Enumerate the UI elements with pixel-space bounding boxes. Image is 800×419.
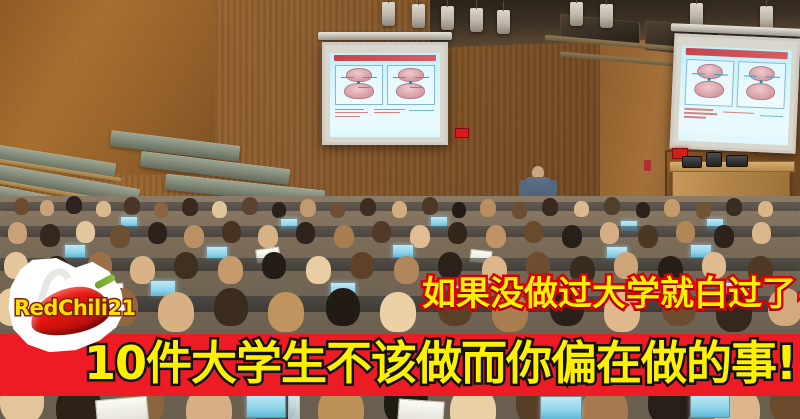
pendant-light bbox=[570, 2, 583, 26]
screen-roller-bar bbox=[318, 32, 452, 40]
slide-caption-area bbox=[330, 123, 440, 138]
screenshot-root: 如果没做过大学就白过了~ 10件大学生不该做而你偏在做的事! RedChili2… bbox=[0, 0, 800, 419]
projector-screen-right bbox=[670, 33, 800, 153]
lecturer-arm bbox=[548, 180, 557, 196]
screen-surface bbox=[322, 42, 448, 145]
notebook bbox=[95, 396, 149, 419]
slide-diagram-box bbox=[335, 65, 382, 106]
headline-main: 10件大学生不该做而你偏在做的事! bbox=[84, 339, 796, 387]
podium-equipment bbox=[682, 156, 702, 168]
podium-equipment bbox=[706, 152, 722, 167]
student-laptop bbox=[690, 394, 730, 418]
slide-diagram-box bbox=[737, 61, 786, 109]
slide-caption-area bbox=[678, 124, 789, 145]
pendant-light bbox=[441, 6, 454, 30]
water-bottle bbox=[288, 392, 300, 419]
podium-equipment bbox=[726, 155, 748, 167]
slide-diagram-box bbox=[387, 65, 434, 106]
slide-content bbox=[678, 45, 792, 128]
student-laptop bbox=[246, 394, 286, 418]
pendant-light bbox=[600, 4, 613, 28]
projector-screen-left bbox=[322, 42, 448, 145]
logo-brand-text: RedChili21 bbox=[14, 296, 126, 320]
pendant-light bbox=[497, 10, 510, 34]
student-laptop bbox=[540, 396, 582, 419]
slide-title-bar bbox=[686, 48, 788, 59]
lecturer-arm bbox=[519, 180, 528, 196]
headline-top: 如果没做过大学就白过了~ bbox=[422, 277, 800, 311]
student-laptop bbox=[64, 244, 86, 258]
slide-content bbox=[330, 53, 440, 123]
exit-sign bbox=[455, 128, 469, 138]
fire-alarm-icon bbox=[644, 160, 651, 171]
slide-diagram-box bbox=[685, 59, 734, 107]
notebook bbox=[397, 398, 445, 419]
screen-surface bbox=[670, 33, 800, 153]
pendant-light bbox=[382, 2, 395, 26]
chili-stem bbox=[94, 273, 117, 290]
pendant-light bbox=[470, 8, 483, 32]
redchili21-logo[interactable]: RedChili21 bbox=[6, 258, 126, 354]
slide-title-bar bbox=[334, 55, 436, 61]
pendant-light bbox=[412, 4, 425, 28]
